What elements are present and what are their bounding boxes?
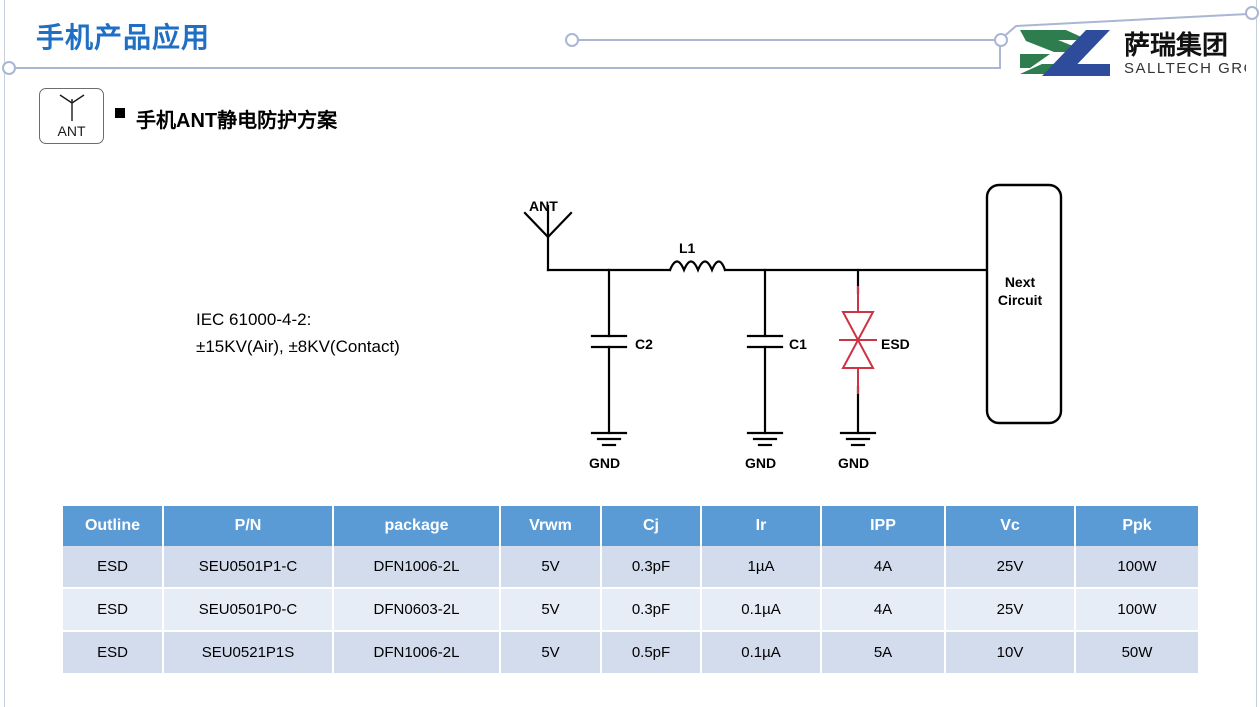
- cell-cj: 0.5pF: [601, 631, 701, 673]
- antenna-icon: [55, 93, 89, 123]
- esd-diode-symbol: [840, 287, 876, 393]
- cell-outline: ESD: [63, 546, 163, 588]
- cell-pn: SEU0501P0-C: [163, 588, 333, 631]
- antenna-symbol: [525, 206, 571, 270]
- frame-right-rule: [1256, 0, 1257, 707]
- label-cap-c2: C2: [635, 336, 653, 352]
- label-ant: ANT: [529, 198, 558, 214]
- iec-note-line1: IEC 61000-4-2:: [196, 306, 400, 333]
- cell-cj: 0.3pF: [601, 546, 701, 588]
- label-gnd-2: GND: [745, 455, 776, 471]
- ground-symbol-2: [748, 433, 782, 445]
- cell-ipp: 4A: [821, 588, 945, 631]
- ground-symbol-3: [841, 433, 875, 445]
- cell-outline: ESD: [63, 588, 163, 631]
- cell-ppk: 50W: [1075, 631, 1198, 673]
- table-row: ESD SEU0521P1S DFN1006-2L 5V 0.5pF 0.1µA…: [63, 631, 1198, 673]
- capacitor-c2-branch: [592, 270, 626, 433]
- col-header-outline: Outline: [63, 506, 163, 546]
- bullet-marker: [115, 108, 125, 118]
- cell-ir: 1µA: [701, 546, 821, 588]
- frame-left-rule: [4, 0, 5, 707]
- ground-symbol-1: [592, 433, 626, 445]
- cell-cj: 0.3pF: [601, 588, 701, 631]
- table-header-row: Outline P/N package Vrwm Cj Ir IPP Vc Pp…: [63, 506, 1198, 546]
- slide-canvas: 手机产品应用 萨瑞集团 SALLTECH GROUP ANT 手机ANT静电防护…: [0, 0, 1260, 707]
- cell-vrwm: 5V: [500, 588, 601, 631]
- inductor-symbol: [670, 262, 725, 271]
- col-header-pn: P/N: [163, 506, 333, 546]
- col-header-ipp: IPP: [821, 506, 945, 546]
- cell-vc: 10V: [945, 631, 1075, 673]
- company-logo: 萨瑞集团 SALLTECH GROUP: [1014, 26, 1246, 80]
- label-cap-c1: C1: [789, 336, 807, 352]
- capacitor-c1-branch: [748, 270, 782, 433]
- cell-vc: 25V: [945, 546, 1075, 588]
- iec-note-line2: ±15KV(Air), ±8KV(Contact): [196, 333, 400, 360]
- section-subtitle: 手机ANT静电防护方案: [136, 104, 337, 133]
- cell-pn: SEU0521P1S: [163, 631, 333, 673]
- cell-package: DFN1006-2L: [333, 546, 500, 588]
- cell-package: DFN1006-2L: [333, 631, 500, 673]
- cell-ipp: 4A: [821, 546, 945, 588]
- page-title: 手机产品应用: [36, 16, 210, 56]
- cell-vc: 25V: [945, 588, 1075, 631]
- col-header-ir: Ir: [701, 506, 821, 546]
- cell-ipp: 5A: [821, 631, 945, 673]
- logo-name-cn: 萨瑞集团: [1124, 30, 1228, 60]
- col-header-vc: Vc: [945, 506, 1075, 546]
- specification-table: Outline P/N package Vrwm Cj Ir IPP Vc Pp…: [63, 506, 1198, 673]
- table-row: ESD SEU0501P1-C DFN1006-2L 5V 0.3pF 1µA …: [63, 546, 1198, 588]
- cell-ppk: 100W: [1075, 546, 1198, 588]
- circuit-schematic: [490, 175, 1100, 480]
- table-row: ESD SEU0501P0-C DFN0603-2L 5V 0.3pF 0.1µ…: [63, 588, 1198, 631]
- label-esd: ESD: [881, 336, 910, 352]
- ant-badge-label: ANT: [40, 123, 103, 139]
- col-header-package: package: [333, 506, 500, 546]
- col-header-vrwm: Vrwm: [500, 506, 601, 546]
- cell-ppk: 100W: [1075, 588, 1198, 631]
- cell-package: DFN0603-2L: [333, 588, 500, 631]
- iec-standard-note: IEC 61000-4-2: ±15KV(Air), ±8KV(Contact): [196, 306, 400, 360]
- col-header-cj: Cj: [601, 506, 701, 546]
- label-inductor: L1: [679, 240, 695, 256]
- cell-vrwm: 5V: [500, 631, 601, 673]
- ant-badge: ANT: [39, 88, 104, 144]
- cell-vrwm: 5V: [500, 546, 601, 588]
- cell-pn: SEU0501P1-C: [163, 546, 333, 588]
- col-header-ppk: Ppk: [1075, 506, 1198, 546]
- cell-outline: ESD: [63, 631, 163, 673]
- logo-name-en: SALLTECH GROUP: [1124, 60, 1246, 77]
- label-gnd-1: GND: [589, 455, 620, 471]
- cell-ir: 0.1µA: [701, 588, 821, 631]
- label-gnd-3: GND: [838, 455, 869, 471]
- label-next-circuit: Next Circuit: [997, 273, 1043, 309]
- cell-ir: 0.1µA: [701, 631, 821, 673]
